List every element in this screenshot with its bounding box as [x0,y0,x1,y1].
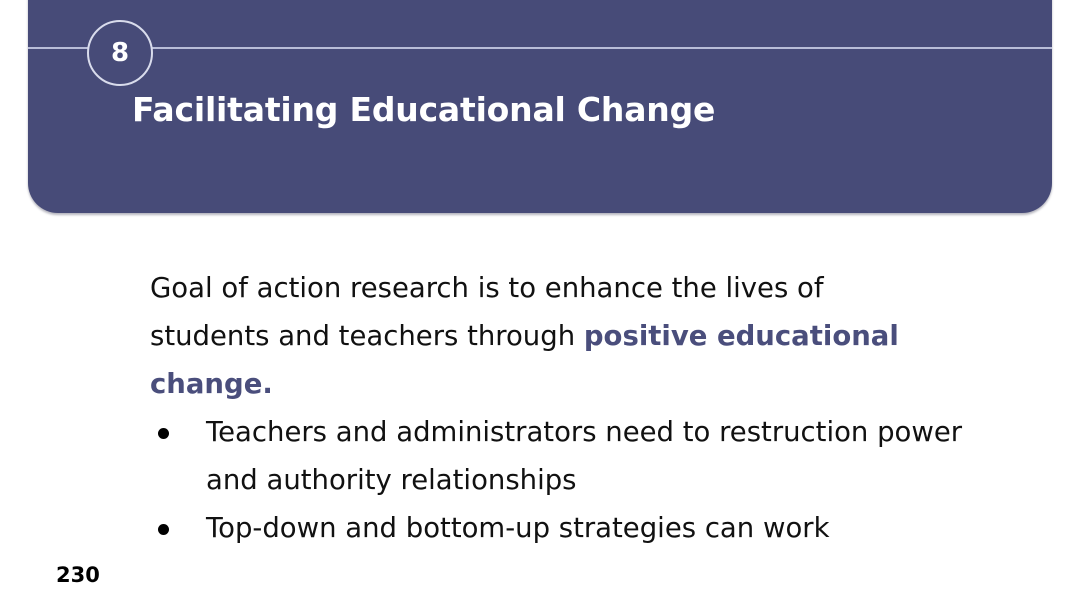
page-title: Facilitating Educational Change [132,90,715,129]
lead-paragraph: Goal of action research is to enhance th… [150,264,950,408]
list-item-label: Teachers and administrators need to rest… [206,416,962,496]
bullet-dot-icon [158,524,169,535]
header-divider-rule [28,47,1052,49]
slide-header-banner: Facilitating Educational Change [28,0,1052,213]
list-item-label: Top-down and bottom-up strategies can wo… [206,512,830,544]
bullet-dot-icon [158,428,169,439]
list-item: Top-down and bottom-up strategies can wo… [150,504,980,552]
slide-body: Goal of action research is to enhance th… [150,264,980,552]
bullet-list: Teachers and administrators need to rest… [150,408,980,552]
page-number: 230 [56,563,100,587]
list-item: Teachers and administrators need to rest… [150,408,980,504]
chapter-number-badge: 8 [87,20,153,86]
chapter-number-label: 8 [111,40,129,66]
